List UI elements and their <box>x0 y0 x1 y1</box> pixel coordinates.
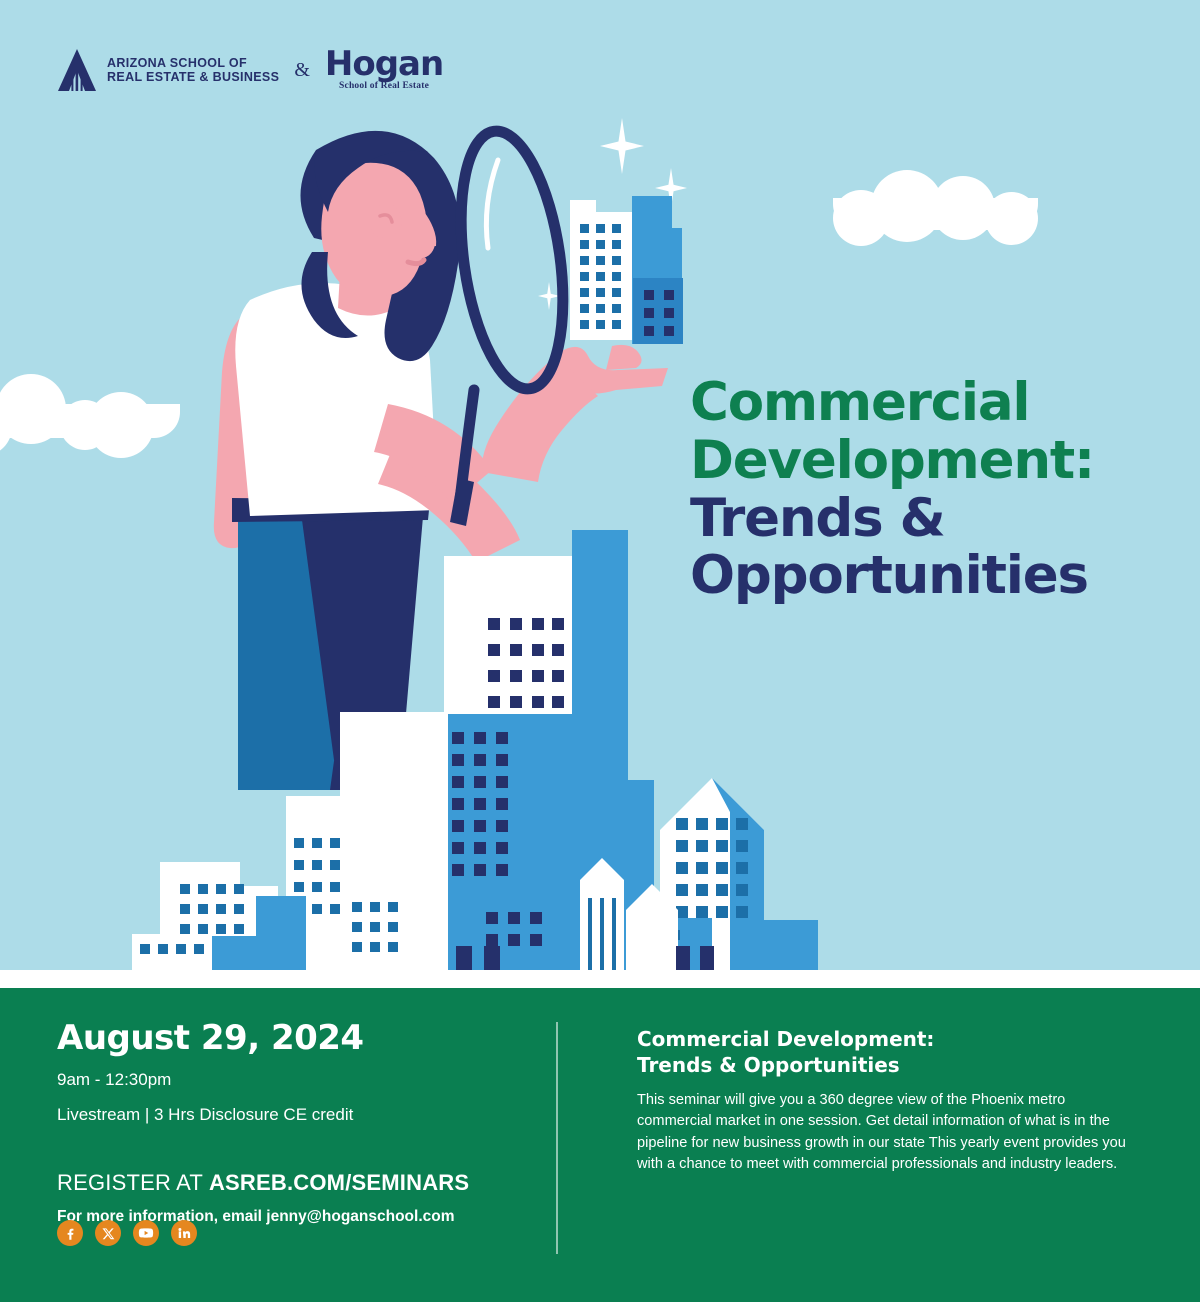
asreb-wordmark: ARIZONA SCHOOL OF REAL ESTATE & BUSINESS <box>107 56 279 84</box>
description-title-line-1: Commercial Development: <box>637 1026 1127 1052</box>
register-prefix: REGISTER AT <box>57 1170 209 1195</box>
register-url[interactable]: ASREB.COM/SEMINARS <box>209 1170 469 1195</box>
facebook-icon[interactable] <box>57 1220 83 1246</box>
event-time: 9am - 12:30pm <box>57 1069 527 1092</box>
logo-bar: ARIZONA SCHOOL OF REAL ESTATE & BUSINESS… <box>57 48 443 92</box>
headline-line-2: Development: <box>690 432 1160 490</box>
headline-line-4: Opportunities <box>690 547 1160 605</box>
youtube-icon[interactable] <box>133 1220 159 1246</box>
description-title-line-2: Trends & Opportunities <box>637 1052 1127 1078</box>
poster-root: ARIZONA SCHOOL OF REAL ESTATE & BUSINESS… <box>0 0 1200 1302</box>
x-twitter-icon[interactable] <box>95 1220 121 1246</box>
headline-line-3: Trends & <box>690 490 1160 548</box>
white-separator-band <box>0 970 1200 988</box>
description-column: Commercial Development: Trends & Opportu… <box>637 1026 1127 1176</box>
asreb-triangle-logo-icon <box>57 48 97 92</box>
event-details-column: August 29, 2024 9am - 12:30pm Livestream… <box>57 1020 527 1227</box>
asreb-line-2: REAL ESTATE & BUSINESS <box>107 70 279 84</box>
hogan-subtitle: School of Real Estate <box>339 82 429 92</box>
column-divider <box>556 1022 558 1254</box>
event-date: August 29, 2024 <box>57 1020 527 1057</box>
social-links <box>57 1220 197 1246</box>
page-title: Commercial Development: Trends & Opportu… <box>690 374 1160 605</box>
asreb-line-1: ARIZONA SCHOOL OF <box>107 56 279 70</box>
linkedin-icon[interactable] <box>171 1220 197 1246</box>
headline-line-1: Commercial <box>690 374 1160 432</box>
hogan-logo: Hogan School of Real Estate <box>325 48 443 92</box>
ampersand-separator: & <box>294 59 310 82</box>
event-format: Livestream | 3 Hrs Disclosure CE credit <box>57 1104 527 1127</box>
description-title: Commercial Development: Trends & Opportu… <box>637 1026 1127 1078</box>
description-body: This seminar will give you a 360 degree … <box>637 1090 1127 1176</box>
hogan-wordmark: Hogan <box>325 48 443 80</box>
floating-buildings <box>570 196 683 344</box>
register-line: REGISTER AT ASREB.COM/SEMINARS <box>57 1169 527 1197</box>
